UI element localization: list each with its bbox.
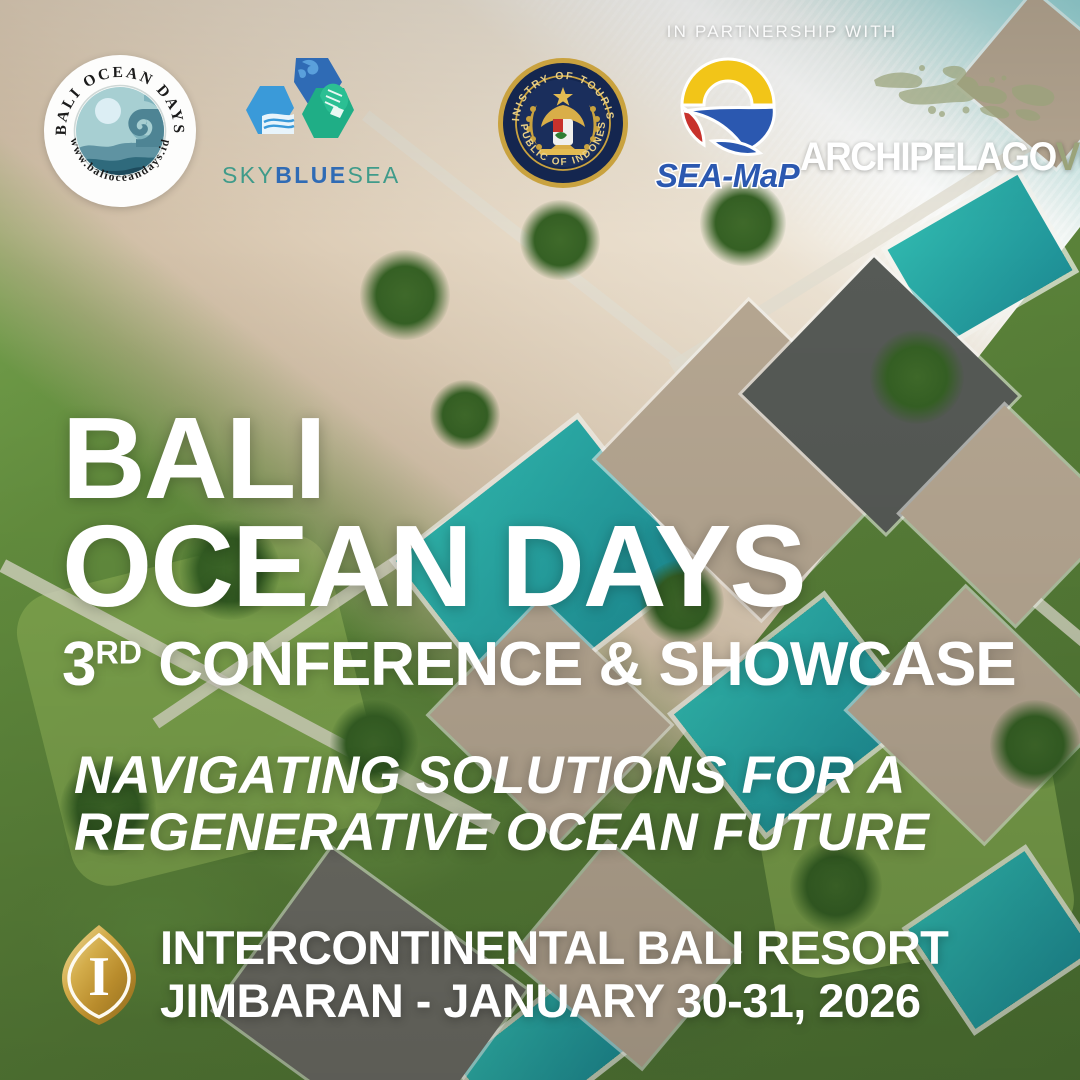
subtitle-text: CONFERENCE & SHOWCASE	[158, 630, 1015, 699]
tagline-block: NAVIGATING SOLUTIONS FOR A REGENERATIVE …	[74, 748, 1064, 861]
partners-label: IN PARTNERSHIP WITH	[662, 22, 902, 42]
archipelago-wordmark: ARCHIPELAGOVC	[800, 135, 1047, 180]
tagline-line-2: REGENERATIVE OCEAN FUTURE	[74, 805, 1064, 862]
bali-ocean-days-logo: BALI OCEAN DAYS www.balioceandays.id	[44, 55, 196, 207]
skybluesea-logo: SKYBLUESEA	[222, 52, 382, 189]
event-poster: IN PARTNERSHIP WITH BALI OCEAN DAYS	[0, 0, 1080, 1080]
venue-line-1: INTERCONTINENTAL BALI RESORT	[160, 922, 948, 975]
sbs-part3: SEA	[347, 162, 400, 188]
recycle-icon	[232, 52, 372, 156]
edition-number: 3	[62, 630, 95, 699]
sbs-part1: SKY	[222, 162, 275, 188]
sbs-part2: BLUE	[275, 162, 347, 188]
venue-block: I INTERCONTINENTAL BALI RESORT JIMBARAN …	[56, 922, 948, 1027]
ministry-of-tourism-seal: MINISTRY OF TOURISM REPUBLIC OF INDONESI…	[497, 57, 629, 189]
headline-line-2: OCEAN DAYS	[62, 514, 1062, 618]
tagline-line-1: NAVIGATING SOLUTIONS FOR A	[74, 748, 1064, 805]
intercontinental-logo: I	[56, 923, 142, 1027]
headline-line-1: BALI	[62, 406, 1062, 510]
indonesia-map-icon	[870, 58, 1060, 136]
sea-map-emblem	[668, 55, 788, 159]
headline-block: BALI OCEAN DAYS 3RD CONFERENCE & SHOWCAS…	[62, 406, 1062, 700]
archipelago-part2: VC	[1056, 135, 1080, 179]
skybluesea-wordmark: SKYBLUESEA	[222, 162, 382, 189]
ic-monogram: I	[88, 946, 110, 1008]
headline-subtitle: 3RD CONFERENCE & SHOWCASE	[62, 629, 1062, 700]
edition-suffix: RD	[95, 634, 142, 670]
venue-line-2: JIMBARAN - JANUARY 30-31, 2026	[160, 975, 948, 1028]
archipelago-vc-logo: ARCHIPELAGOVC	[800, 58, 1068, 188]
sea-map-logo: SEA-MaP	[645, 55, 810, 195]
venue-text: INTERCONTINENTAL BALI RESORT JIMBARAN - …	[160, 922, 948, 1027]
archipelago-part1: ARCHIPELAGO	[800, 135, 1056, 179]
sea-map-wordmark: SEA-MaP	[645, 157, 810, 195]
